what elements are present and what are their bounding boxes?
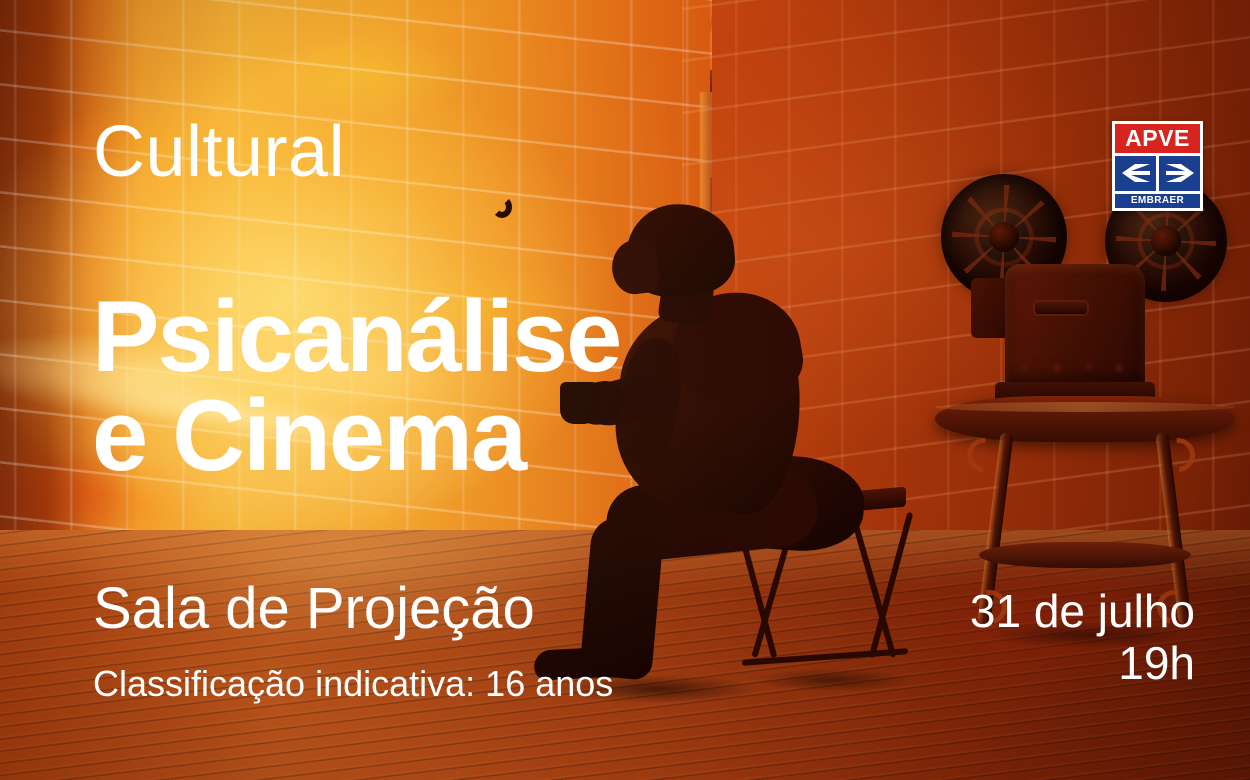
poster-kicker: Cultural [93, 116, 345, 188]
ornate-table-shelf [979, 542, 1191, 568]
logo-embraer-band: EMBRAER [1115, 194, 1200, 208]
poster-title-line-2: e Cinema [92, 387, 620, 486]
projector-panel [1035, 302, 1087, 314]
poster-datetime: 31 de julho 19h [970, 586, 1195, 689]
poster-title-line-1: Psicanálise [92, 288, 620, 387]
reel-hub [989, 222, 1019, 252]
logo-arrow-row [1115, 156, 1200, 191]
logo-apve-text: APVE [1125, 127, 1190, 150]
event-poster: Cultural Psicanálise e Cinema Sala de Pr… [0, 0, 1250, 780]
logo-apve-band: APVE [1115, 124, 1200, 153]
coffee-cup-handle [492, 196, 512, 218]
logo-left-square [1115, 156, 1156, 191]
arrow-left-icon [1121, 162, 1151, 184]
poster-title: Psicanálise e Cinema [92, 288, 620, 486]
reel-hub [1151, 226, 1180, 255]
projector-knobs [1011, 356, 1141, 378]
film-projector [925, 160, 1250, 630]
poster-rating: Classificação indicativa: 16 anos [93, 666, 613, 702]
logo-right-square [1159, 156, 1200, 191]
table-rim [935, 402, 1235, 412]
arrow-right-icon [1165, 162, 1195, 184]
apve-embraer-logo: APVE EMBRAER [1112, 121, 1203, 211]
poster-date: 31 de julho [970, 586, 1195, 638]
poster-venue: Sala de Projeção [93, 580, 535, 638]
logo-embraer-text: EMBRAER [1131, 196, 1184, 206]
poster-time: 19h [970, 638, 1195, 690]
ornate-table-top [935, 396, 1235, 442]
